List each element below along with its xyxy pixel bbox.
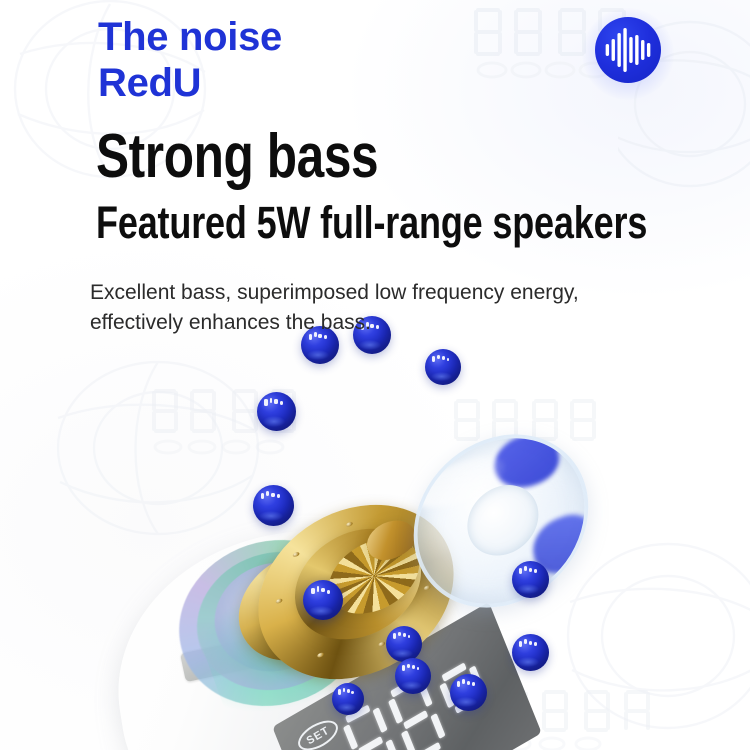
sphere-highlight bbox=[524, 639, 527, 644]
sphere-highlight bbox=[407, 664, 410, 669]
sphere-highlight bbox=[462, 679, 465, 684]
page-subtitle: Featured 5W full-range speakers bbox=[96, 200, 647, 245]
sphere-sheen bbox=[263, 416, 286, 426]
sphere-highlight bbox=[467, 681, 471, 685]
blue-sphere bbox=[512, 634, 549, 671]
sphere-sheen bbox=[337, 703, 356, 711]
sphere-highlight bbox=[437, 355, 440, 360]
blue-sphere bbox=[512, 561, 549, 598]
sphere-highlight bbox=[274, 399, 278, 403]
sound-wave-icon bbox=[595, 17, 661, 83]
brand-line-2: RedU bbox=[98, 60, 282, 106]
sphere-highlight bbox=[347, 689, 350, 693]
sphere-highlight bbox=[311, 588, 315, 594]
brand-title: The noise RedU bbox=[98, 14, 282, 106]
sound-wave-badge[interactable] bbox=[595, 17, 661, 83]
blue-sphere bbox=[303, 580, 343, 620]
blue-sphere bbox=[395, 658, 431, 694]
sphere-sheen bbox=[517, 657, 538, 667]
blue-sphere bbox=[257, 392, 296, 431]
sphere-highlight bbox=[534, 569, 537, 573]
body-line-2: effectively enhances the bass. bbox=[90, 308, 670, 338]
sphere-highlight bbox=[472, 682, 475, 686]
marketing-banner: SET The noise bbox=[0, 0, 750, 750]
blue-sphere bbox=[386, 626, 422, 662]
sphere-sheen bbox=[455, 697, 476, 707]
sphere-highlight bbox=[524, 566, 527, 571]
body-line-1: Excellent bass, superimposed low frequen… bbox=[90, 281, 579, 304]
blue-sphere bbox=[450, 674, 487, 711]
sphere-highlight bbox=[327, 590, 330, 594]
brand-line-1: The noise bbox=[98, 15, 282, 59]
sphere-sheen bbox=[517, 584, 538, 594]
page-title: Strong bass bbox=[96, 126, 378, 188]
sphere-highlight bbox=[529, 568, 533, 572]
sphere-highlight bbox=[519, 641, 522, 647]
sphere-highlight bbox=[529, 641, 533, 645]
sphere-highlight bbox=[317, 586, 320, 591]
sphere-highlight bbox=[398, 632, 401, 637]
sphere-highlight bbox=[519, 568, 522, 574]
sphere-highlight bbox=[457, 681, 460, 687]
blue-sphere bbox=[425, 349, 461, 385]
blue-sphere bbox=[253, 485, 294, 526]
sphere-highlight bbox=[343, 688, 345, 692]
sphere-highlight bbox=[338, 689, 341, 694]
blue-sphere bbox=[332, 683, 364, 715]
sphere-highlight bbox=[534, 642, 537, 646]
body-description: Excellent bass, superimposed low frequen… bbox=[90, 278, 670, 338]
sphere-sheen bbox=[309, 606, 332, 616]
product-image: SET bbox=[0, 320, 750, 750]
sphere-highlight bbox=[280, 401, 283, 405]
sphere-highlight bbox=[351, 691, 354, 694]
sphere-highlight bbox=[264, 399, 268, 405]
